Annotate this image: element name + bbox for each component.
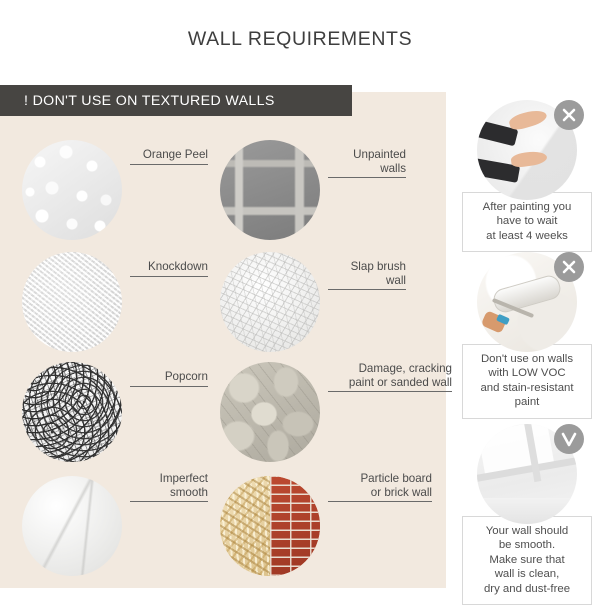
note-photo-wrap [462,424,592,516]
imperfect-smooth-swatch [22,476,122,576]
note-card-wait-4-weeks: After painting you have to wait at least… [462,100,592,252]
note-text: Your wall should be smooth. Make sure th… [462,516,592,605]
note-photo-wrap [462,252,592,344]
x-mark-badge [554,252,584,282]
wall-base-shape [477,498,577,524]
texture-label: Unpainted walls [328,148,406,178]
note-text: After painting you have to wait at least… [462,192,592,252]
page-title: WALL REQUIREMENTS [0,28,600,51]
texture-label: Knockdown [130,260,208,277]
warning-banner-label: ! DON'T USE ON TEXTURED WALLS [0,93,275,109]
brick-wall-half [270,476,320,576]
knockdown-swatch [22,252,122,352]
particle-board-half [220,476,270,576]
hand-shape [510,150,548,169]
texture-label: Imperfect smooth [130,472,208,502]
x-mark-badge [554,100,584,130]
popcorn-swatch [22,362,122,462]
check-mark-badge [554,424,584,454]
note-photo-wrap [462,100,592,192]
roller-body-shape [491,273,563,315]
warning-banner: ! DON'T USE ON TEXTURED WALLS [0,85,352,116]
texture-label: Particle board or brick wall [328,472,432,502]
hand-shape [508,107,549,132]
particle-board-brick-swatch [220,476,320,576]
note-card-smooth-clean-wall: Your wall should be smooth. Make sure th… [462,424,592,605]
texture-label: Damage, cracking paint or sanded wall [328,362,452,392]
note-text: Don't use on walls with LOW VOC and stai… [462,344,592,419]
slap-brush-wall-swatch [220,252,320,352]
unpainted-walls-swatch [220,140,320,240]
texture-label: Slap brush wall [328,260,406,290]
orange-peel-swatch [22,140,122,240]
texture-label: Orange Peel [130,148,208,165]
texture-label: Popcorn [130,370,208,387]
damage-cracking-swatch [220,362,320,462]
note-card-low-voc: Don't use on walls with LOW VOC and stai… [462,252,592,419]
